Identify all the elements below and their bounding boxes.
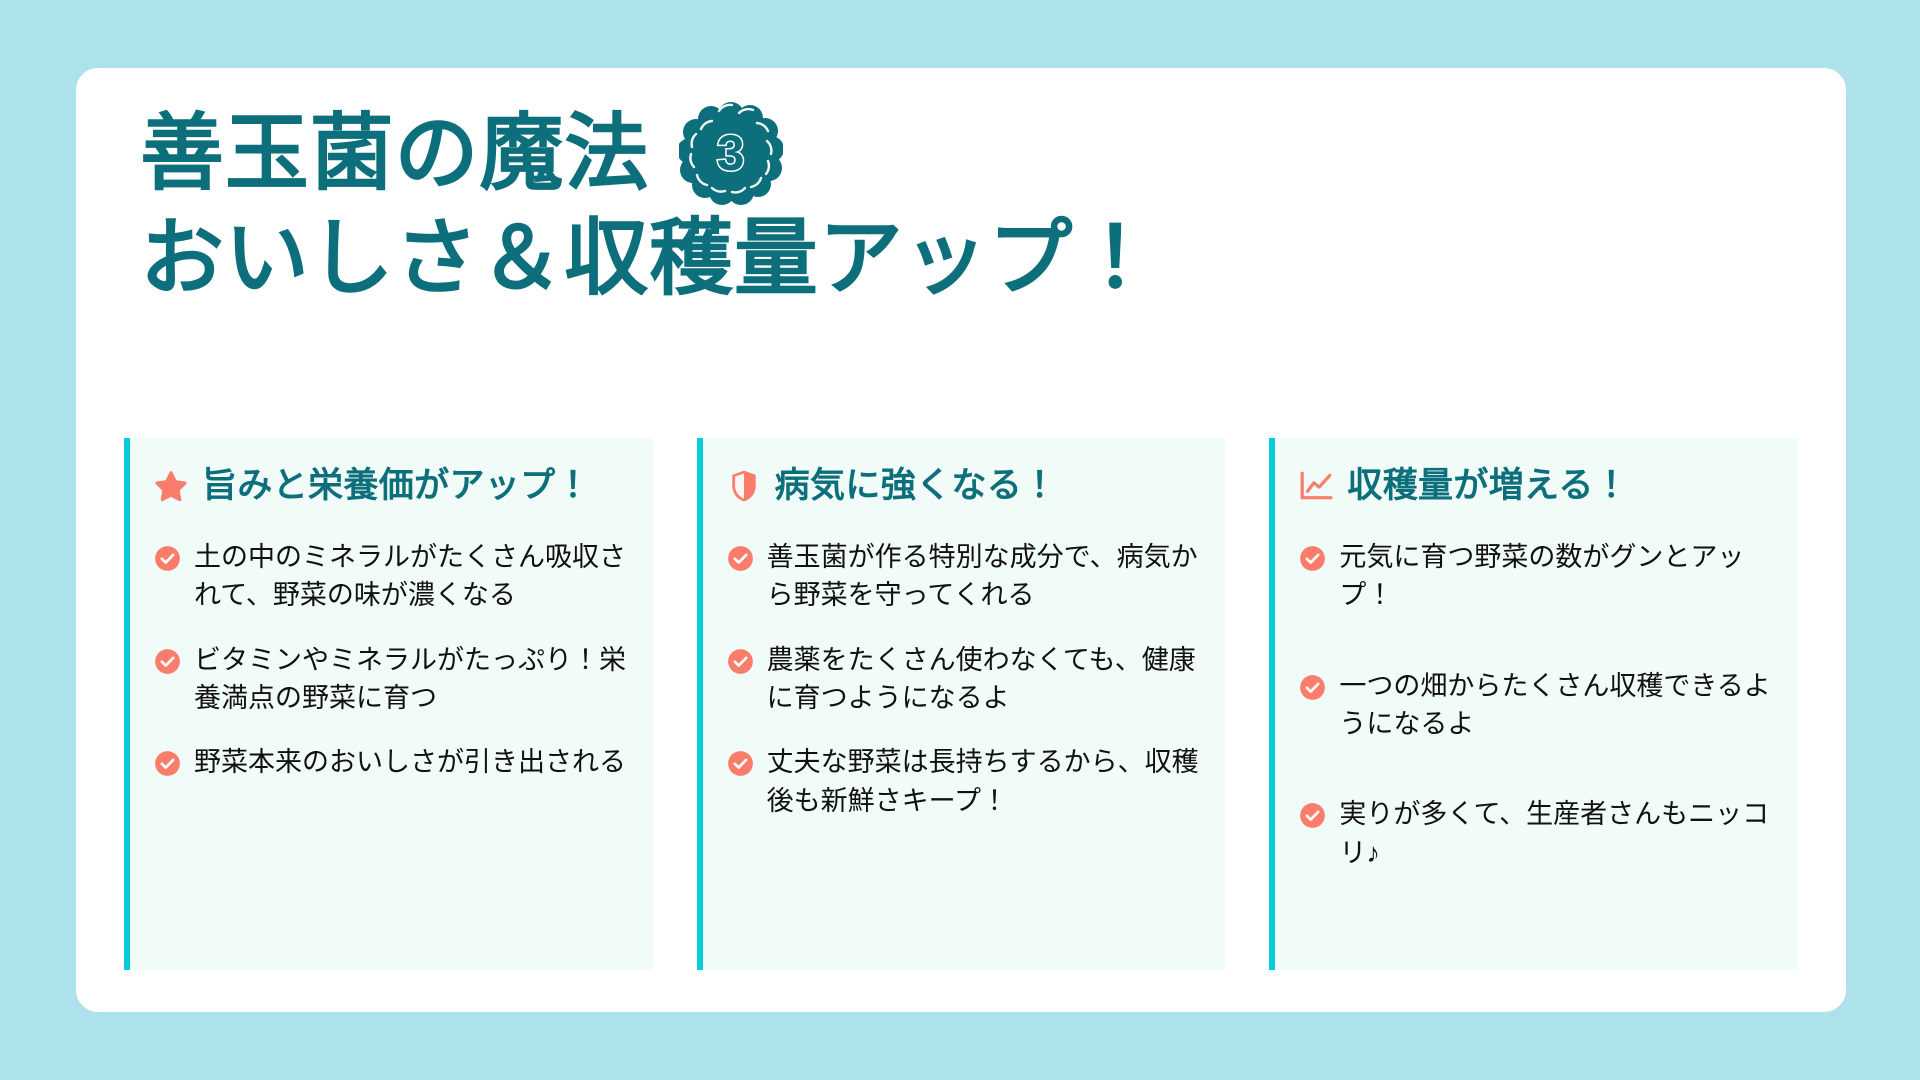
check-circle-icon — [1299, 674, 1326, 701]
shield-icon — [727, 469, 761, 503]
column-header: 旨みと栄養価がアップ！ — [154, 460, 635, 512]
list-item-text: 善玉菌が作る特別な成分で、病気から野菜を守ってくれる — [767, 538, 1208, 615]
benefit-column-disease-resistance: 病気に強くなる！ 善玉菌が作る特別な成分で、病気から野菜を守ってくれる — [697, 438, 1226, 970]
page-title-line-2: おいしさ＆収穫量アップ！ — [140, 211, 1158, 305]
list-item: 実りが多くて、生産者さんもニッコリ♪ — [1299, 795, 1780, 872]
column-header: 収穫量が増える！ — [1299, 460, 1780, 512]
check-circle-icon — [1299, 545, 1326, 572]
list-item-text: 一つの畑からたくさん収穫できるようになるよ — [1339, 667, 1780, 744]
benefit-column-taste: 旨みと栄養価がアップ！ 土の中のミネラルがたくさん吸収されて、野菜の味が濃くなる — [124, 438, 653, 970]
check-circle-icon — [727, 750, 754, 777]
list-item: 丈夫な野菜は長持ちするから、収穫後も新鮮さキープ！ — [727, 743, 1208, 820]
list-item: 農薬をたくさん使わなくても、健康に育つようになるよ — [727, 641, 1208, 718]
title-line-2-row: おいしさ＆収穫量アップ！ — [140, 211, 1790, 305]
check-circle-icon — [727, 648, 754, 675]
list-item-text: 実りが多くて、生産者さんもニッコリ♪ — [1339, 795, 1780, 872]
list-item: 元気に育つ野菜の数がグンとアップ！ — [1299, 538, 1780, 615]
check-circle-icon — [154, 545, 181, 572]
column-title: 病気に強くなる！ — [775, 466, 1058, 506]
list-item-text: 丈夫な野菜は長持ちするから、収穫後も新鮮さキープ！ — [767, 743, 1208, 820]
list-item: 善玉菌が作る特別な成分で、病気から野菜を守ってくれる — [727, 538, 1208, 615]
column-title: 収穫量が増える！ — [1347, 466, 1629, 506]
check-circle-icon — [154, 750, 181, 777]
list-item: 野菜本来のおいしさが引き出される — [154, 743, 635, 781]
step-badge-number: 3 — [679, 101, 783, 205]
list-item-text: 土の中のミネラルがたくさん吸収されて、野菜の味が濃くなる — [194, 538, 635, 615]
step-number-badge: 3 — [679, 101, 783, 205]
list-item-text: ビタミンやミネラルがたっぷり！栄養満点の野菜に育つ — [194, 641, 635, 718]
benefit-columns: 旨みと栄養価がアップ！ 土の中のミネラルがたくさん吸収されて、野菜の味が濃くなる — [124, 438, 1798, 970]
column-title: 旨みと栄養価がアップ！ — [202, 466, 591, 506]
list-item-text: 野菜本来のおいしさが引き出される — [194, 743, 626, 781]
column-header: 病気に強くなる！ — [727, 460, 1208, 512]
title-line-1-row: 善玉菌の魔法 — [140, 101, 1790, 205]
list-item: 土の中のミネラルがたくさん吸収されて、野菜の味が濃くなる — [154, 538, 635, 615]
chart-line-up-icon — [1299, 469, 1333, 503]
benefit-list: 善玉菌が作る特別な成分で、病気から野菜を守ってくれる 農薬をたくさん使わなくても… — [727, 538, 1208, 820]
check-circle-icon — [1299, 802, 1326, 829]
slide-root: 善玉菌の魔法 — [0, 0, 1920, 1080]
page-title-line-1: 善玉菌の魔法 — [140, 109, 649, 197]
list-item: ビタミンやミネラルがたっぷり！栄養満点の野菜に育つ — [154, 641, 635, 718]
list-item-text: 農薬をたくさん使わなくても、健康に育つようになるよ — [767, 641, 1208, 718]
title-block: 善玉菌の魔法 — [140, 101, 1790, 305]
check-circle-icon — [727, 545, 754, 572]
benefit-list: 元気に育つ野菜の数がグンとアップ！ 一つの畑からたくさん収穫できるようになるよ — [1299, 538, 1780, 872]
star-icon — [154, 469, 188, 503]
slide-content-card: 善玉菌の魔法 — [76, 68, 1846, 1012]
list-item-text: 元気に育つ野菜の数がグンとアップ！ — [1339, 538, 1780, 615]
check-circle-icon — [154, 648, 181, 675]
benefit-column-yield: 収穫量が増える！ 元気に育つ野菜の数がグンとアップ！ — [1269, 438, 1798, 970]
benefit-list: 土の中のミネラルがたくさん吸収されて、野菜の味が濃くなる ビタミンやミネラルがた… — [154, 538, 635, 782]
list-item: 一つの畑からたくさん収穫できるようになるよ — [1299, 667, 1780, 744]
